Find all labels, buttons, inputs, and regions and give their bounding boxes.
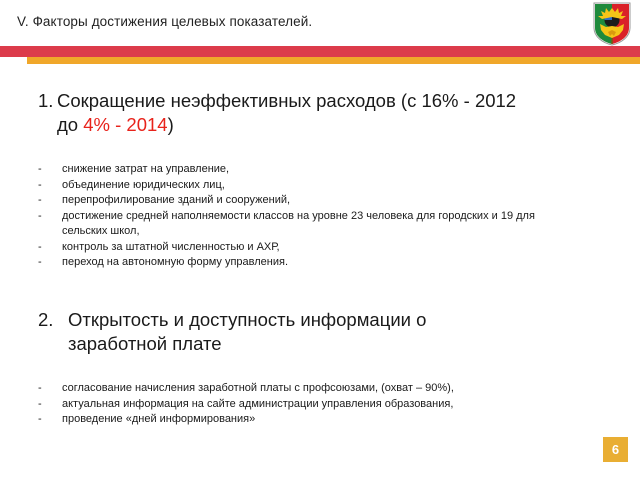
list-item: -объединение юридических лиц, — [0, 178, 600, 194]
bullet-dash-icon: - — [38, 209, 42, 225]
bullet-dash-icon: - — [38, 255, 42, 271]
list-item: -переход на автономную форму управления. — [0, 255, 600, 271]
header-divider-red — [0, 46, 640, 57]
section-2-heading-line-2: заработной плате — [38, 332, 618, 356]
list-item-label: согласование начисления заработной платы… — [62, 382, 454, 394]
section-1-heading-line-2: до 4% - 2014) — [38, 113, 618, 137]
section-1-heading: 1. Сокращение неэффективных расходов (с … — [0, 89, 618, 137]
bullet-dash-icon: - — [38, 412, 42, 428]
list-item-label: достижение средней наполняемости классов… — [62, 210, 535, 238]
slide-content: 1. Сокращение неэффективных расходов (с … — [0, 64, 640, 479]
section-1: 1. Сокращение неэффективных расходов (с … — [0, 89, 640, 271]
list-item-label: переход на автономную форму управления. — [62, 256, 288, 268]
section-2-bullet-list: -согласование начисления заработной плат… — [0, 381, 600, 428]
list-item-label: объединение юридических лиц, — [62, 179, 225, 191]
slide-header: V. Факторы достижения целевых показателе… — [0, 0, 640, 46]
bullet-dash-icon: - — [38, 162, 42, 178]
section-1-heading-prefix: до — [57, 114, 83, 135]
section-1-bullet-list: -снижение затрат на управление, -объедин… — [0, 162, 600, 271]
section-2-heading-line-1: Открытость и доступность информации о — [38, 308, 618, 332]
list-item: -актуальная информация на сайте админист… — [0, 397, 600, 413]
list-item-label: актуальная информация на сайте администр… — [62, 398, 453, 410]
list-item: -согласование начисления заработной плат… — [0, 381, 600, 397]
list-item: -контроль за штатной численностью и АХР, — [0, 240, 600, 256]
list-item-label: контроль за штатной численностью и АХР, — [62, 241, 280, 253]
coat-of-arms-icon — [593, 2, 631, 46]
list-item-label: перепрофилирование зданий и сооружений, — [62, 194, 290, 206]
section-1-heading-suffix: ) — [168, 114, 174, 135]
page-number-badge: 6 — [603, 437, 628, 462]
bullet-dash-icon: - — [38, 381, 42, 397]
bullet-dash-icon: - — [38, 178, 42, 194]
section-2-heading: 2. Открытость и доступность информации о… — [0, 308, 618, 356]
bullet-dash-icon: - — [38, 240, 42, 256]
section-2: 2. Открытость и доступность информации о… — [0, 308, 640, 428]
bullet-dash-icon: - — [38, 397, 42, 413]
list-item-label: проведение «дней информирования» — [62, 413, 255, 425]
list-item: -перепрофилирование зданий и сооружений, — [0, 193, 600, 209]
list-item: -снижение затрат на управление, — [0, 162, 600, 178]
page-title: V. Факторы достижения целевых показателе… — [17, 13, 312, 31]
list-item: -достижение средней наполняемости классо… — [0, 209, 600, 240]
list-item: -проведение «дней информирования» — [0, 412, 600, 428]
section-1-heading-line-1: Сокращение неэффективных расходов (с 16%… — [38, 89, 618, 113]
section-2-number: 2. — [38, 308, 53, 332]
section-1-number: 1. — [38, 89, 53, 113]
section-1-heading-accent: 4% - 2014 — [83, 114, 167, 135]
list-item-label: снижение затрат на управление, — [62, 163, 229, 175]
header-divider-orange — [27, 57, 640, 64]
bullet-dash-icon: - — [38, 193, 42, 209]
